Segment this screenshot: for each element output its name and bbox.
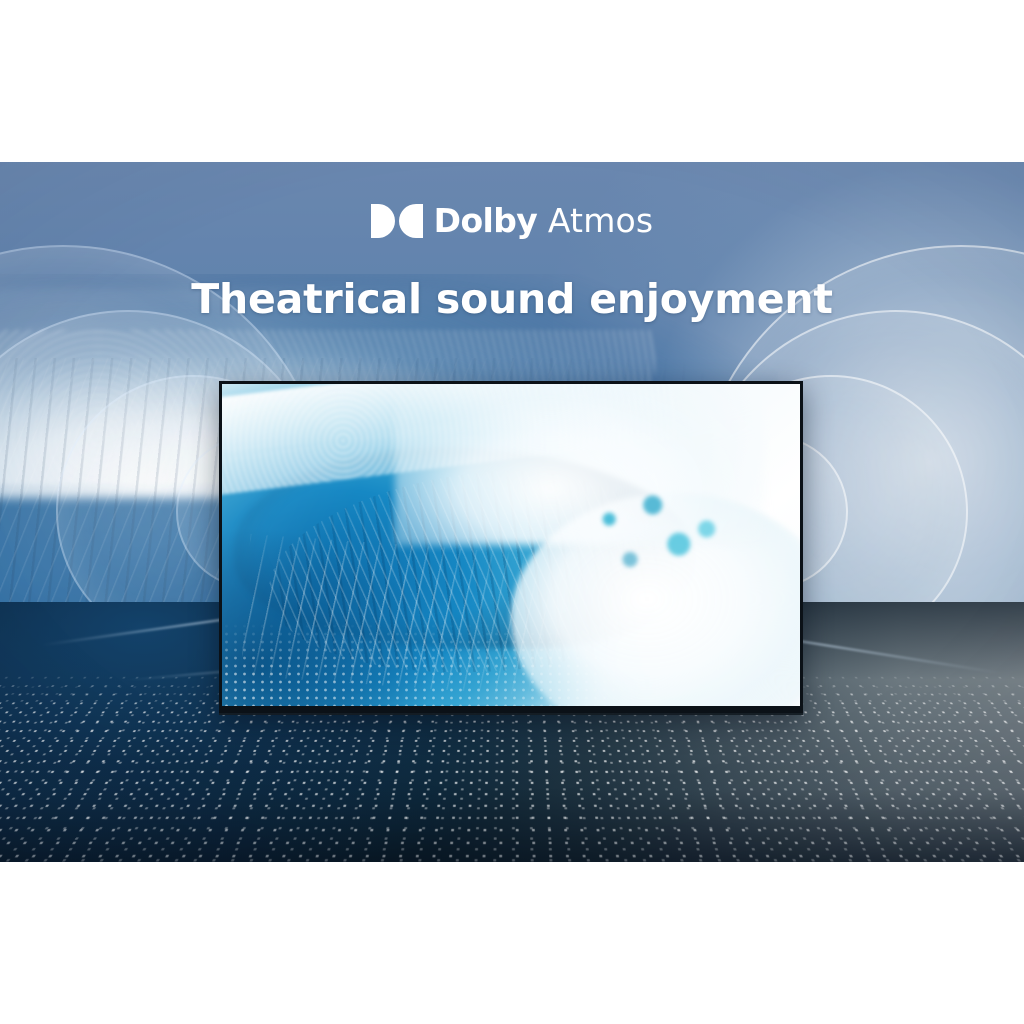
screen-teal-splash: [557, 481, 730, 590]
dolby-double-d-icon: [371, 204, 423, 238]
dolby-atmos-logo: Dolby Atmos: [0, 204, 1024, 238]
television-device: [219, 381, 803, 713]
dolby-atmos-wordmark: Dolby Atmos: [434, 204, 654, 238]
banner-page: Dolby Atmos Theatrical sound enjoyment: [0, 0, 1024, 1024]
screen-dot-pattern: [222, 622, 800, 706]
dolby-d-left-icon: [371, 204, 395, 238]
atmos-word: Atmos: [537, 201, 653, 240]
dolby-atmos-banner: Dolby Atmos Theatrical sound enjoyment: [0, 162, 1024, 862]
dolby-word: Dolby: [434, 201, 538, 240]
television-screen: [222, 384, 800, 706]
headline-text: Theatrical sound enjoyment: [0, 275, 1024, 323]
dolby-d-right-icon: [399, 204, 423, 238]
